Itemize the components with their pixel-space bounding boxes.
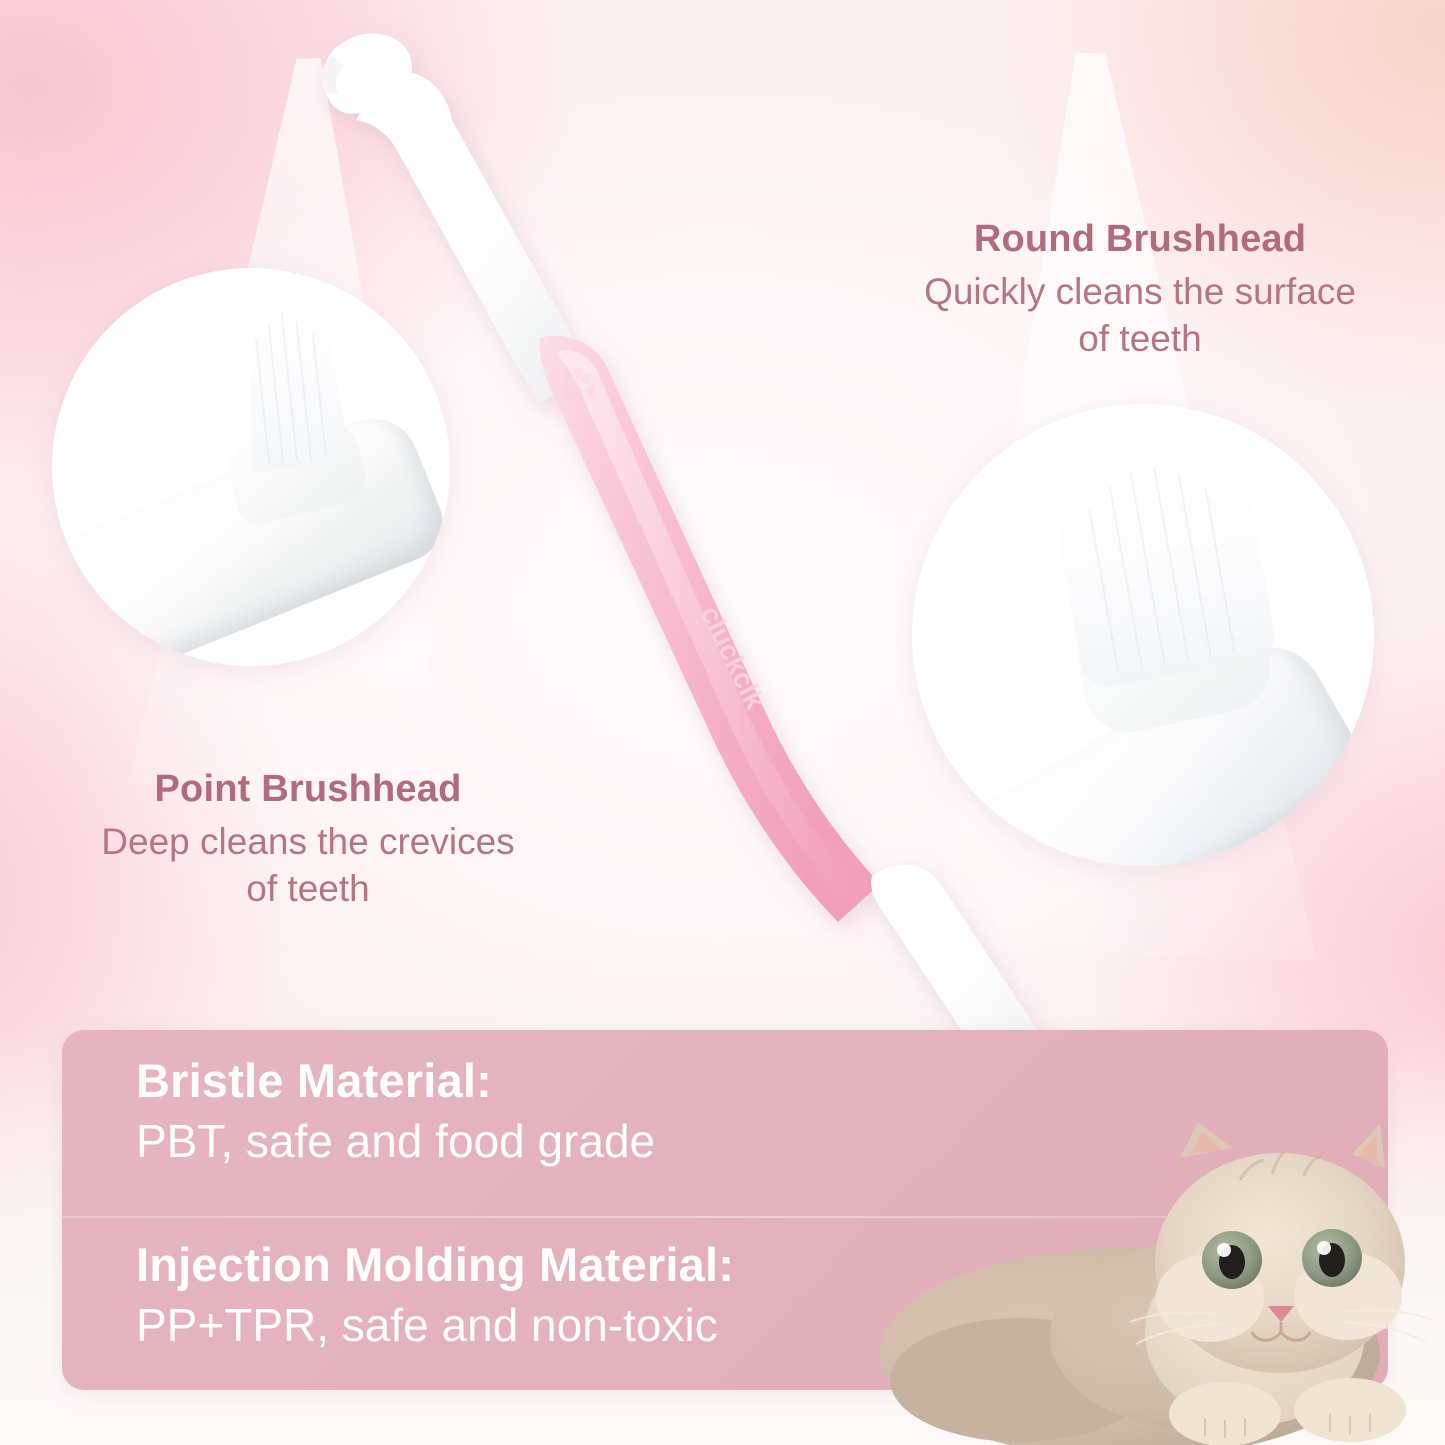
feature-title: Round Brushhead [840,218,1440,262]
cat-illustration [880,1118,1445,1445]
material-item-injection-molding: Injection Molding Material: PP+TPR, safe… [136,1236,734,1355]
material-label: Bristle Material: [136,1052,655,1109]
cat-photo [880,1118,1445,1445]
feature-title: Point Brushhead [18,768,598,812]
feature-description-line-2: of teeth [18,865,598,912]
lens-round-brushhead [912,404,1374,866]
lens-right-bristle-tuft [1046,431,1279,692]
material-label: Injection Molding Material: [136,1236,734,1293]
feature-label-point-brushhead: Point Brushhead Deep cleans the crevices… [18,768,598,912]
material-value: PBT, safe and food grade [136,1113,655,1171]
feature-description-line-1: Deep cleans the crevices [18,818,598,865]
feature-description-line-2: of teeth [840,315,1440,362]
lens-point-brushhead [52,268,450,666]
material-item-bristle: Bristle Material: PBT, safe and food gra… [136,1052,655,1171]
feature-description-line-1: Quickly cleans the surface [840,268,1440,315]
material-value: PP+TPR, safe and non-toxic [136,1297,734,1355]
feature-label-round-brushhead: Round Brushhead Quickly cleans the surfa… [840,218,1440,362]
product-infographic: cluckclk [0,0,1445,1445]
